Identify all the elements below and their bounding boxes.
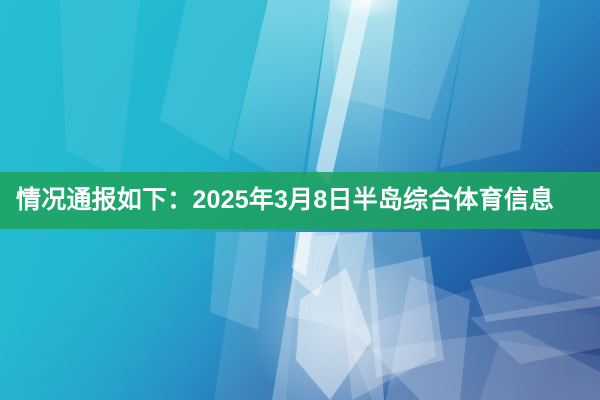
headline-band: 情况通报如下：2025年3月8日半岛综合体育信息	[0, 172, 600, 229]
headline-text: 情况通报如下：2025年3月8日半岛综合体育信息	[0, 188, 554, 213]
promo-banner: 情况通报如下：2025年3月8日半岛综合体育信息	[0, 0, 600, 400]
